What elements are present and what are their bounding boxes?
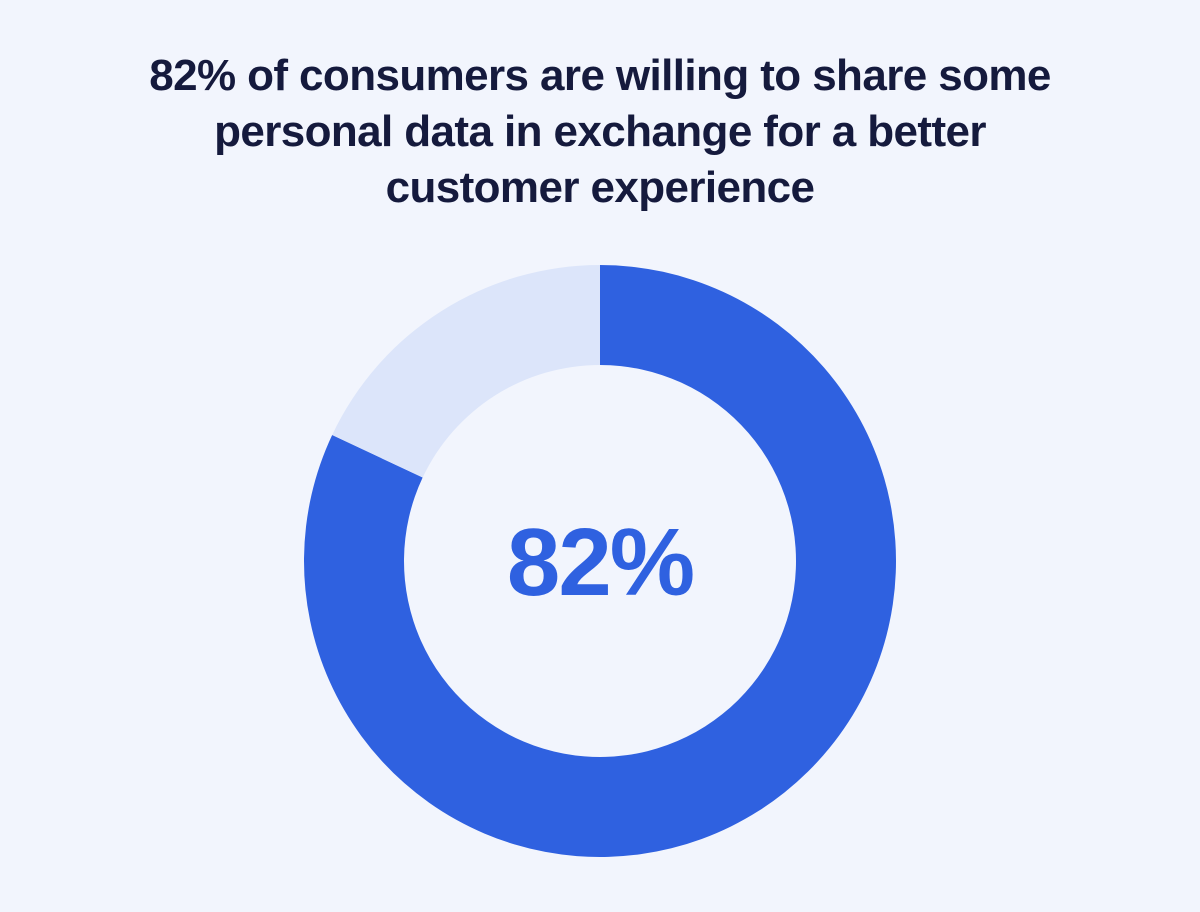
page-title: 82% of consumers are willing to share so… (0, 48, 1200, 216)
donut-chart-svg: Willing to share personal data: 82%Not w… (304, 265, 896, 857)
donut-chart: Willing to share personal data: 82%Not w… (304, 265, 896, 857)
donut-slice-2: Not willing to share personal data: 18% (332, 265, 600, 478)
donut-slice-group: Willing to share personal data: 82%Not w… (304, 265, 896, 857)
infographic-canvas: 82% of consumers are willing to share so… (0, 0, 1200, 912)
